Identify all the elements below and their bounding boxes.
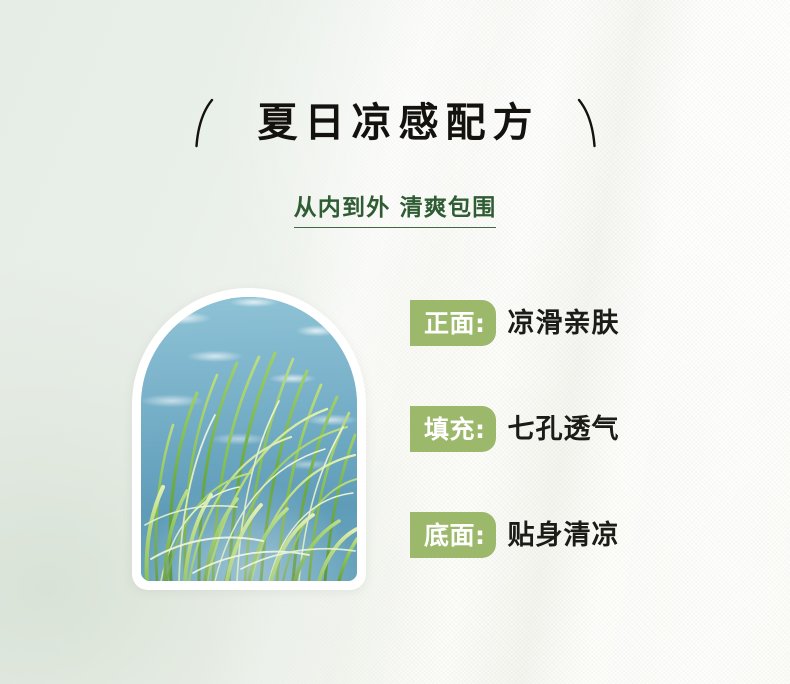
feature-badge-bottom: 底面: [410, 512, 496, 558]
feature-label-filling: 填充: [424, 417, 486, 442]
feature-label-front: 正面: [424, 311, 486, 336]
open-stroke-mark-icon [191, 96, 217, 150]
title-row: 夏日凉感配方 [0, 96, 790, 150]
feature-value-filling: 七孔透气 [508, 416, 620, 443]
feature-value-front: 凉滑亲肤 [508, 310, 620, 337]
feature-row-front: 正面: 凉滑亲肤 [410, 300, 750, 346]
feature-badge-front: 正面: [410, 300, 496, 346]
summer-grass-by-water-photo [141, 297, 357, 581]
feature-row-bottom: 底面: 贴身清凉 [410, 512, 750, 558]
feature-label-bottom: 底面: [424, 523, 486, 548]
close-stroke-mark-icon [574, 96, 600, 150]
feature-value-bottom: 贴身清凉 [508, 522, 620, 549]
arch-photo-frame [132, 288, 366, 590]
page-subtitle: 从内到外 清爽包围 [294, 194, 497, 228]
feature-badge-filling: 填充: [410, 406, 496, 452]
feature-list: 正面: 凉滑亲肤 填充: 七孔透气 底面: 贴身清凉 [410, 300, 750, 558]
page-title: 夏日凉感配方 [251, 103, 540, 143]
subtitle-row: 从内到外 清爽包围 [0, 194, 790, 228]
promo-poster: 夏日凉感配方 从内到外 清爽包围 [0, 0, 790, 684]
feature-row-filling: 填充: 七孔透气 [410, 406, 750, 452]
grass-illustration [141, 297, 357, 581]
